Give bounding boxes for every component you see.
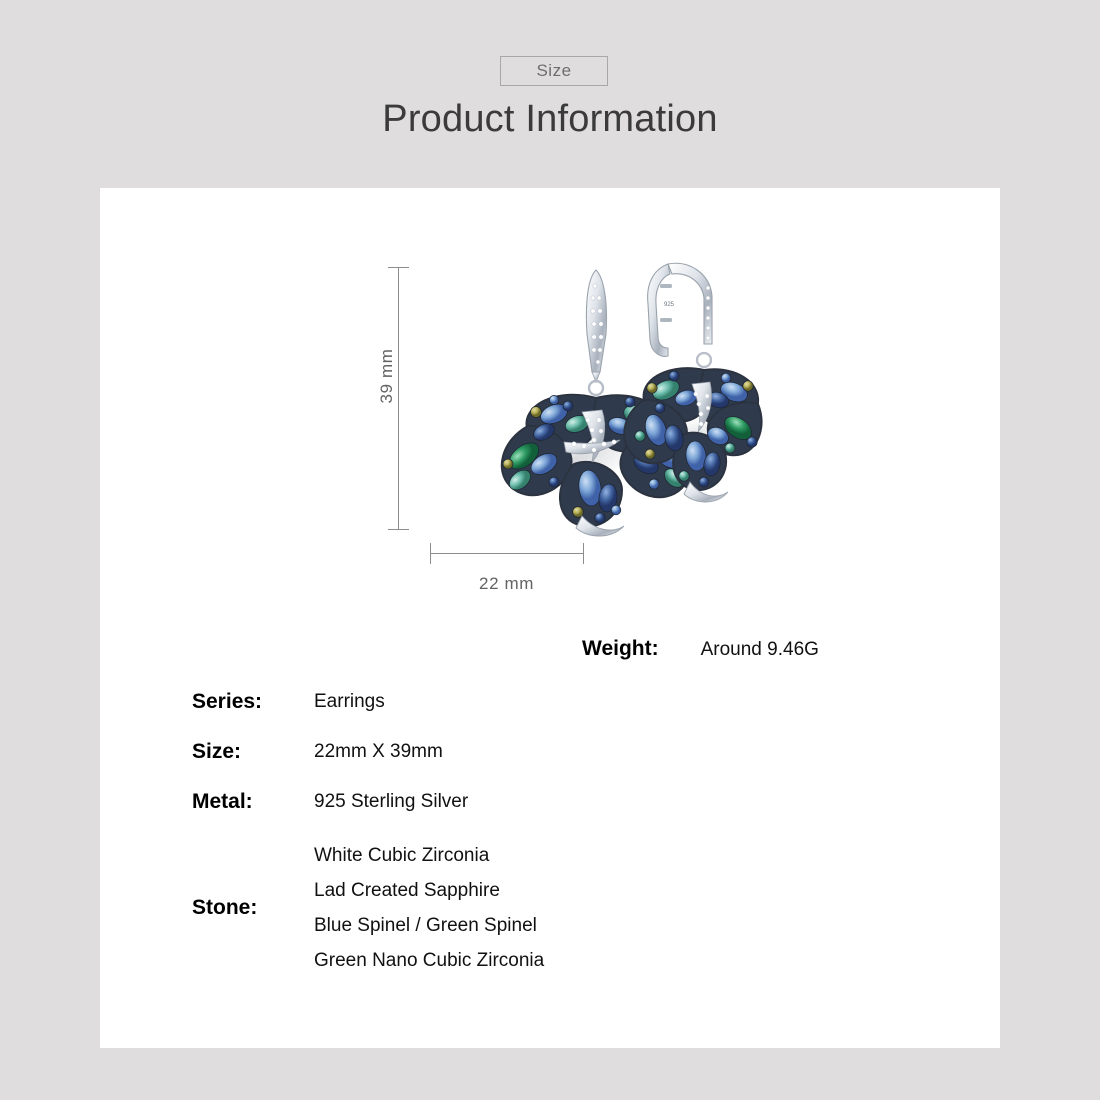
spec-label-metal: Metal:: [192, 788, 314, 816]
stone-line-2: Lad Created Sapphire: [314, 873, 544, 908]
spec-value-size: 22mm X 39mm: [314, 738, 443, 766]
spec-row-series: Series: Earrings: [192, 688, 952, 716]
height-dimension-cap-top: [388, 267, 409, 268]
spec-row-metal: Metal: 925 Sterling Silver: [192, 788, 952, 816]
spec-label-stone: Stone:: [192, 895, 314, 921]
spec-value-stone: White Cubic Zirconia Lad Created Sapphir…: [314, 838, 544, 978]
spec-value-series: Earrings: [314, 688, 385, 716]
product-figure: 925: [100, 188, 1000, 608]
spec-label-size: Size:: [192, 738, 314, 766]
spec-row-size: Size: 22mm X 39mm: [192, 738, 952, 766]
product-info-card: 925: [100, 188, 1000, 1048]
stone-line-3: Blue Spinel / Green Spinel: [314, 908, 544, 943]
product-information-page: Size Product Information: [0, 0, 1100, 1100]
size-badge: Size: [500, 56, 608, 86]
spec-label-weight: Weight:: [582, 637, 659, 661]
spec-row-stone: Stone: White Cubic Zirconia Lad Created …: [192, 838, 952, 978]
height-dimension-label: 39 mm: [377, 321, 397, 431]
width-dimension-cap-right: [583, 543, 584, 564]
width-dimension-label: 22 mm: [430, 574, 583, 594]
width-dimension-line: [430, 553, 583, 554]
height-dimension-line: [398, 267, 399, 529]
spec-list: Series: Earrings Size: 22mm X 39mm Metal…: [192, 688, 952, 1000]
stone-line-1: White Cubic Zirconia: [314, 838, 544, 873]
width-dimension-cap-left: [430, 543, 431, 564]
spec-label-series: Series:: [192, 688, 314, 716]
page-title: Product Information: [0, 98, 1100, 141]
metal-stamp-925: 925: [664, 302, 675, 308]
size-badge-label: Size: [536, 61, 571, 81]
spec-value-metal: 925 Sterling Silver: [314, 788, 468, 816]
stone-line-4: Green Nano Cubic Zirconia: [314, 943, 544, 978]
spec-row-weight: Weight: Around 9.46G: [582, 637, 819, 661]
earrings-image: 925: [368, 248, 768, 578]
spec-value-weight: Around 9.46G: [701, 639, 819, 661]
height-dimension-cap-bottom: [388, 529, 409, 530]
